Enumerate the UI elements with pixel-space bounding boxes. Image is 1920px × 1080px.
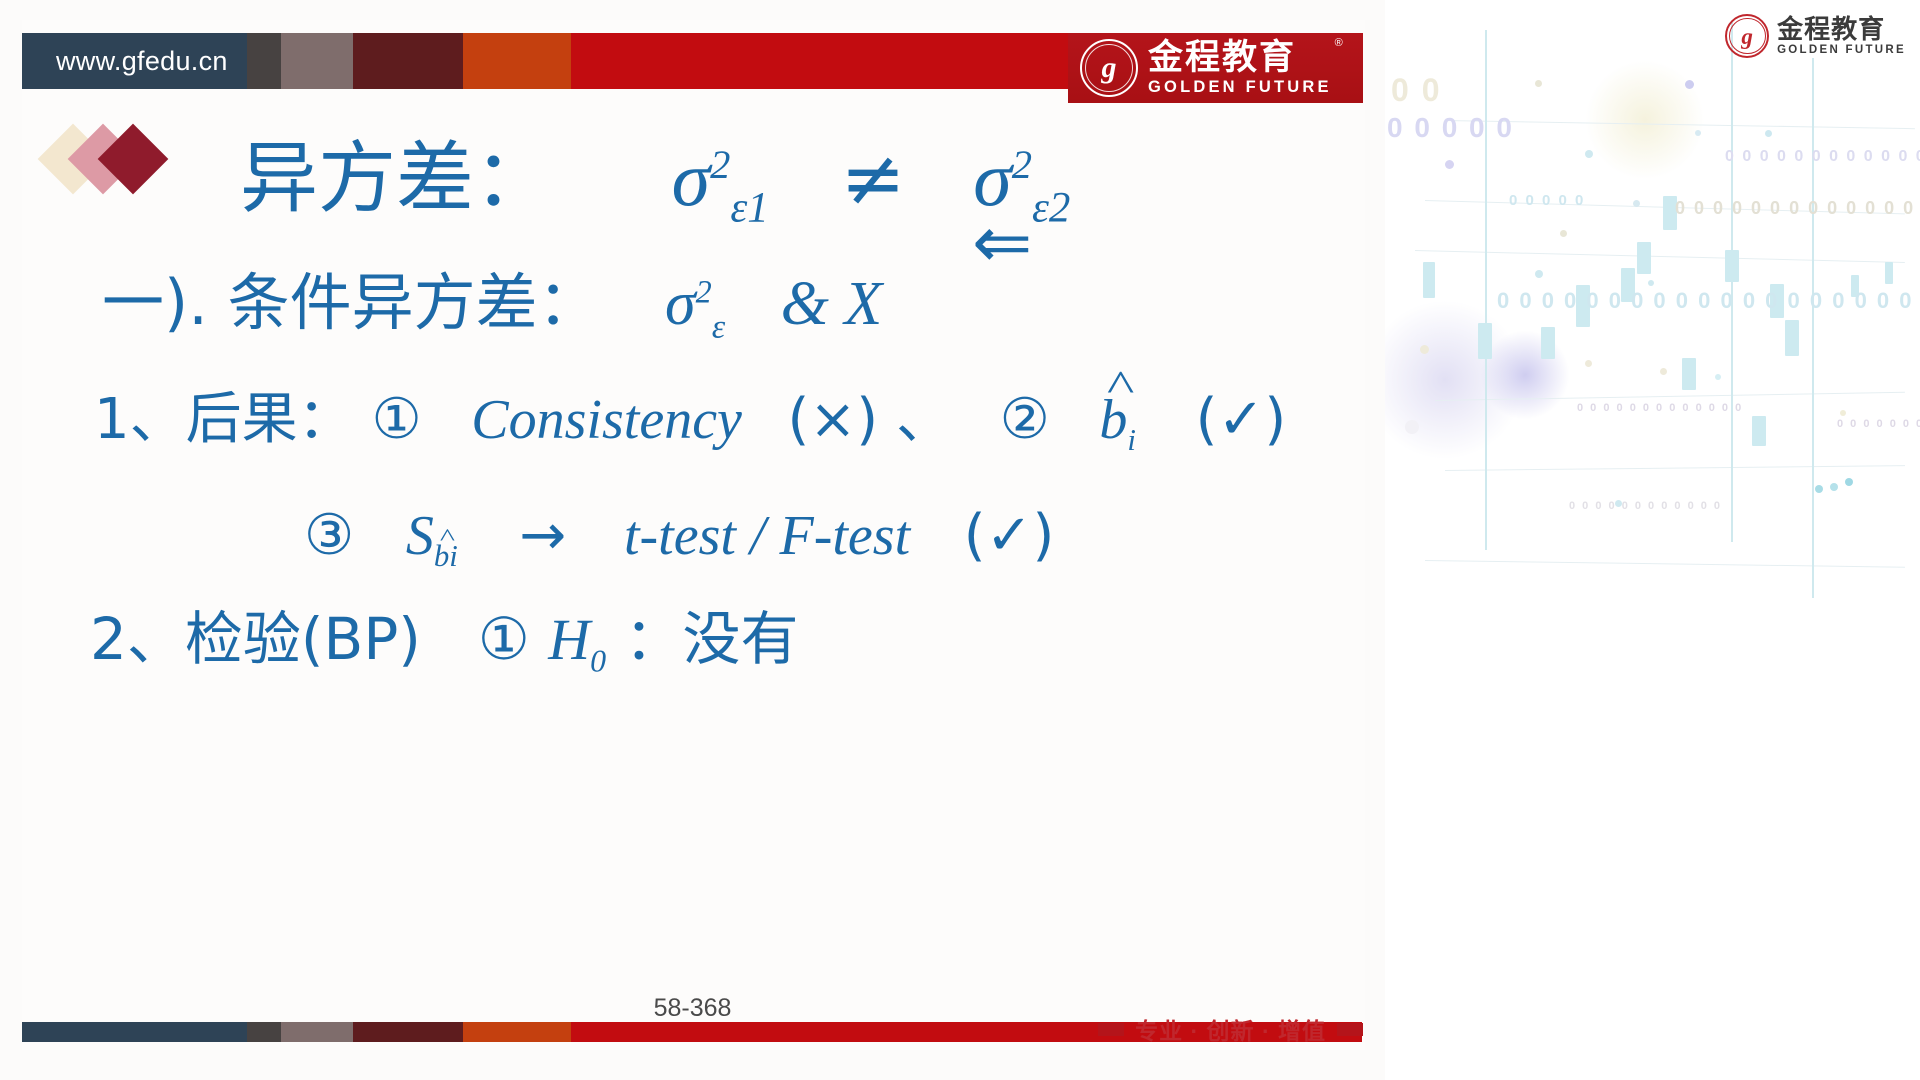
data-bar — [1725, 250, 1739, 282]
binary-zero-row: 0 0 0 0 0 0 0 0 0 0 0 0 0 0 — [1675, 198, 1920, 219]
brand-name-chinese-text: 金程教育 — [1148, 38, 1296, 77]
footer-segment-5 — [463, 1022, 571, 1042]
slide-area: www.gfedu.cn g 金程教育® GOLDEN FUTURE — [0, 0, 1385, 1080]
tagline-text: 专业 · 创新 · 增值 — [1135, 1012, 1326, 1046]
data-point-dot — [1535, 270, 1543, 278]
data-point-dot — [1830, 483, 1838, 491]
tagline-dash-left — [1098, 1023, 1124, 1036]
data-bar — [1423, 262, 1435, 298]
website-url-label: www.gfedu.cn — [22, 33, 247, 89]
corner-brand-logo: g 金程教育 GOLDEN FUTURE — [1725, 14, 1906, 58]
data-point-dot — [1840, 410, 1846, 416]
data-point-dot — [1715, 374, 1721, 380]
binary-zero-row: 0 0 0 0 0 — [1509, 192, 1585, 209]
binary-zero-row: 0 0 0 0 0 0 0 0 0 0 0 0 0 0 0 0 0 0 0 0 … — [1497, 288, 1920, 314]
decorative-glow — [1585, 60, 1705, 180]
ribbon-segment-2 — [247, 33, 281, 89]
tagline-dash-right — [1337, 1023, 1363, 1036]
binary-zero-row: 0 0 0 0 0 0 0 0 0 0 0 0 0 0 0 0 — [1725, 148, 1920, 166]
data-bar — [1752, 416, 1766, 446]
binary-zero-row: 0 0 0 0 0 0 0 0 0 0 0 0 — [1569, 500, 1722, 512]
data-bar — [1478, 323, 1492, 359]
brand-name-chinese: 金程教育® — [1148, 40, 1332, 75]
data-bar — [1785, 320, 1799, 356]
data-point-dot — [1585, 150, 1593, 158]
footer-segment-4 — [353, 1022, 463, 1042]
trend-line — [1425, 560, 1905, 568]
data-point-dot — [1585, 360, 1592, 367]
diamond-decoration — [48, 122, 178, 196]
ribbon-segment-3 — [281, 33, 353, 89]
data-point-dot — [1845, 478, 1853, 486]
data-bar — [1637, 242, 1651, 274]
decorative-data-graphic: 0 0 0 0 0 0 0 0 0 0 0 0 0 0 0 0 0 0 0 0 … — [1385, 0, 1920, 663]
slide-canvas — [22, 20, 1365, 1050]
data-bar — [1682, 358, 1696, 390]
header-brand-logo: g 金程教育® GOLDEN FUTURE — [1068, 33, 1363, 103]
footer-tagline: 专业 · 创新 · 增值 — [1098, 1012, 1363, 1046]
brand-name-english: GOLDEN FUTURE — [1148, 79, 1332, 96]
brand-seal-icon: g — [1080, 39, 1138, 97]
binary-zero-row: 0 0 0 0 0 — [1387, 112, 1514, 144]
decorative-glow — [1480, 330, 1570, 420]
footer-segment-1 — [22, 1022, 247, 1042]
screen-root: www.gfedu.cn g 金程教育® GOLDEN FUTURE — [0, 0, 1920, 1080]
registered-mark: ® — [1335, 38, 1345, 49]
data-point-dot — [1535, 80, 1542, 87]
data-point-dot — [1660, 368, 1667, 375]
ribbon-segment-5 — [463, 33, 571, 89]
data-point-dot — [1445, 160, 1454, 169]
vertical-axis-line — [1485, 30, 1487, 550]
data-point-dot — [1695, 130, 1701, 136]
binary-zero-row: 0 0 0 0 0 0 0 0 — [1837, 418, 1920, 430]
data-point-dot — [1405, 420, 1419, 434]
corner-brand-chinese: 金程教育 — [1777, 16, 1906, 42]
vertical-axis-line — [1812, 58, 1814, 598]
data-point-dot — [1560, 230, 1567, 237]
data-bar — [1885, 262, 1893, 284]
data-point-dot — [1648, 280, 1654, 286]
footer-segment-3 — [281, 1022, 353, 1042]
data-point-dot — [1615, 500, 1622, 507]
data-point-dot — [1815, 485, 1823, 493]
corner-brand-english: GOLDEN FUTURE — [1777, 45, 1906, 57]
data-point-dot — [1685, 80, 1694, 89]
binary-zero-row: 0 0 — [1391, 72, 1441, 109]
binary-zero-row: 0 0 0 0 0 0 0 0 0 0 0 0 0 — [1577, 402, 1743, 414]
data-point-dot — [1765, 130, 1772, 137]
data-bar — [1541, 327, 1555, 359]
trend-line — [1415, 250, 1905, 263]
footer-segment-2 — [247, 1022, 281, 1042]
data-point-dot — [1420, 345, 1429, 354]
trend-line — [1445, 465, 1905, 471]
ribbon-segment-4 — [353, 33, 463, 89]
right-column: 0 0 0 0 0 0 0 0 0 0 0 0 0 0 0 0 0 0 0 0 … — [1385, 0, 1920, 1080]
corner-seal-icon: g — [1725, 14, 1769, 58]
data-point-dot — [1633, 200, 1640, 207]
vertical-axis-line — [1731, 22, 1733, 542]
